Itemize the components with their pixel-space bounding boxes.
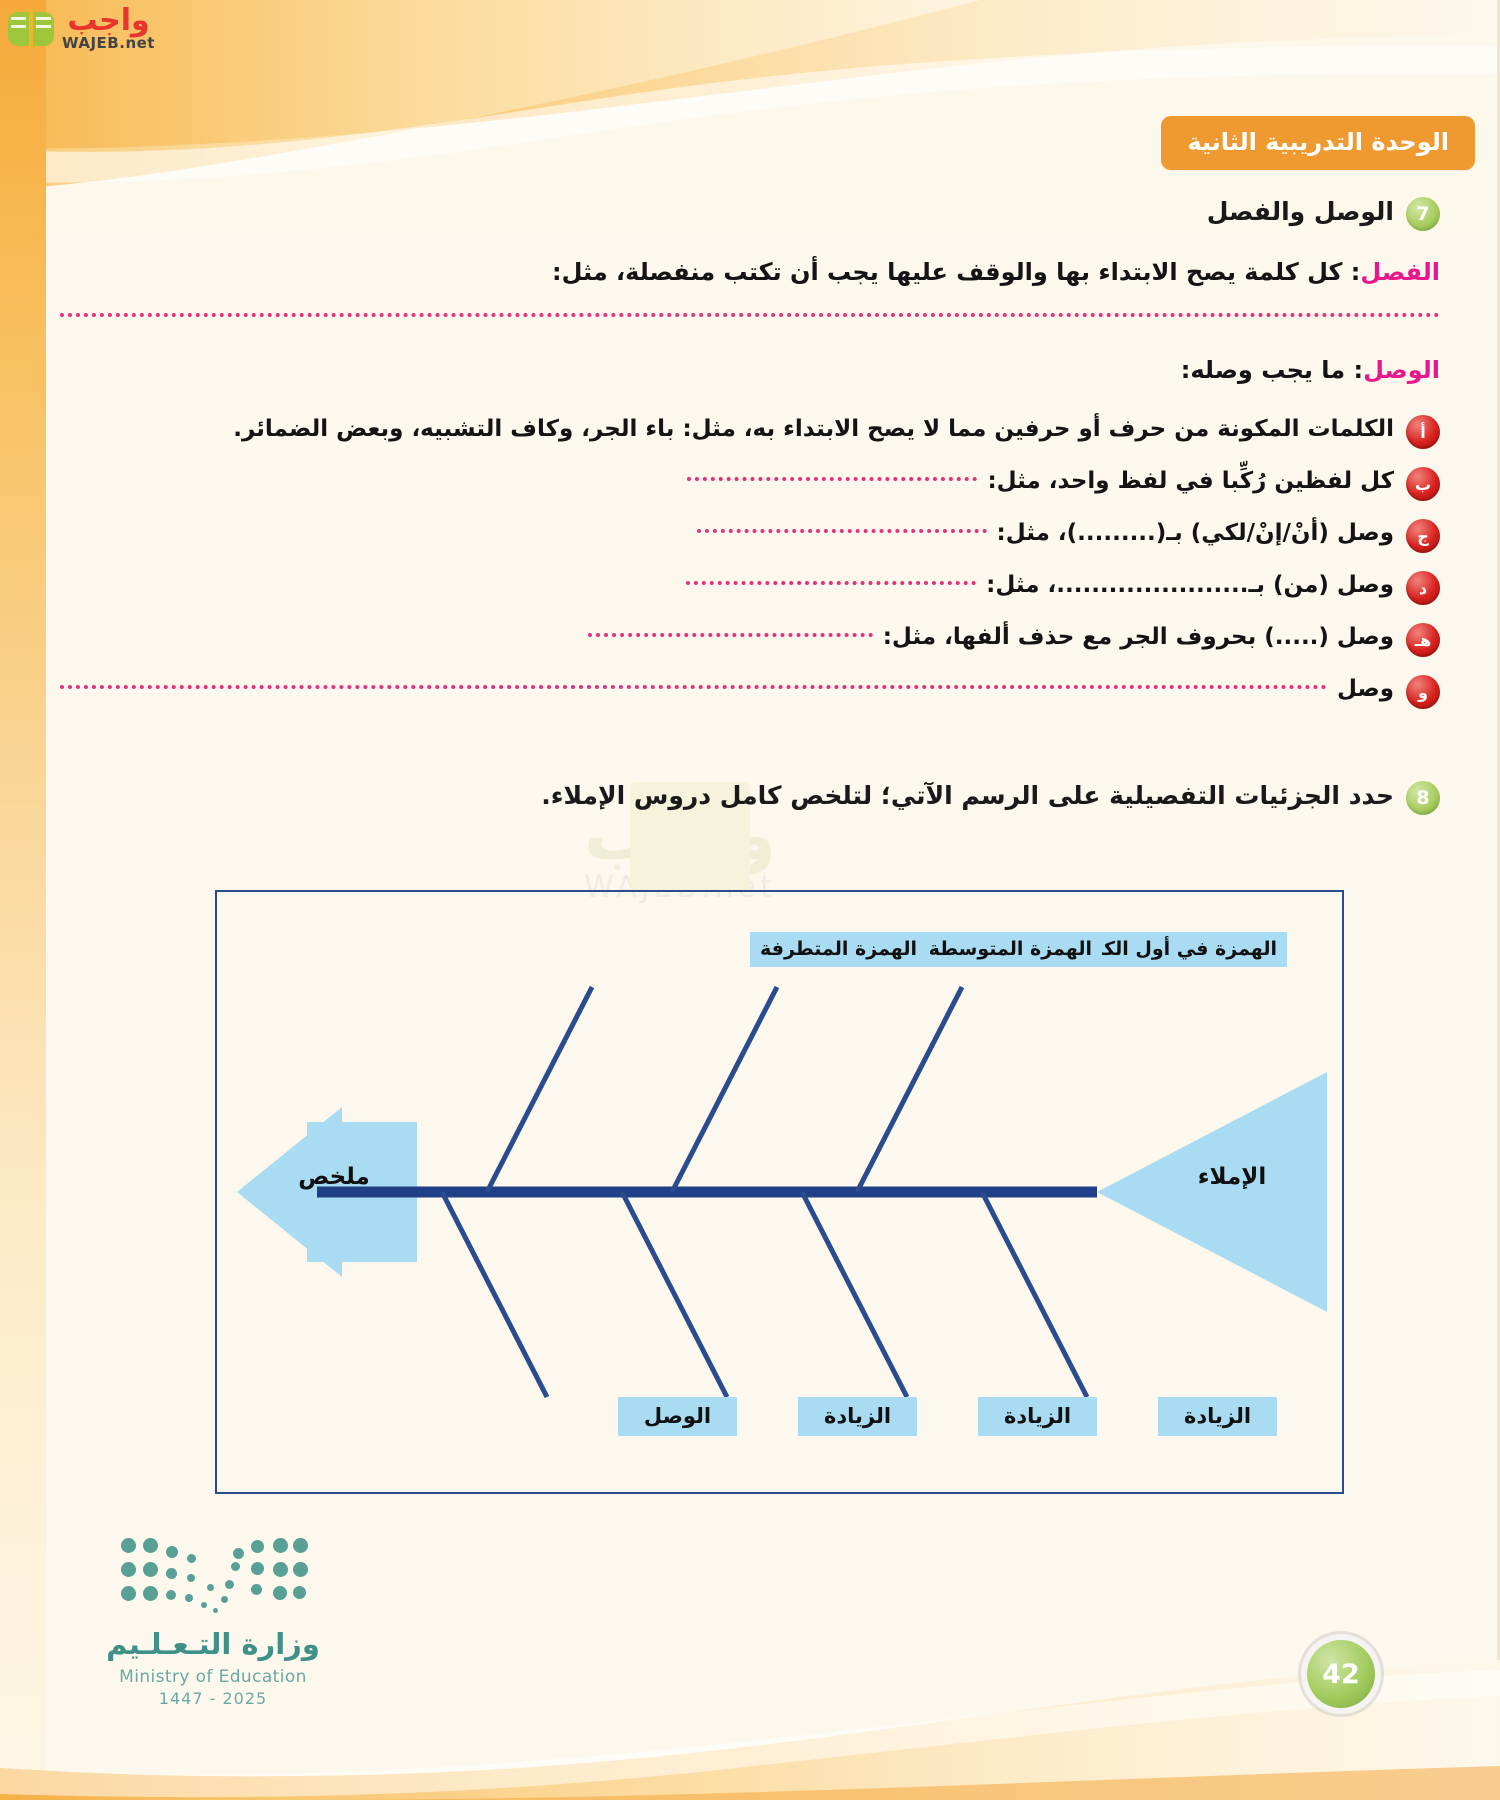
unit-banner: الوحدة التدريبية الثانية [1161, 116, 1475, 170]
fasl-answer-blank[interactable] [60, 299, 1440, 325]
watermark-word: واجب [62, 6, 155, 36]
list-item: و وصل [60, 671, 1440, 709]
item-answer-blank[interactable] [687, 463, 977, 481]
list-item: هـ وصل (.....) بحروف الجر مع حذف ألفها، … [60, 619, 1440, 657]
book-icon [8, 10, 54, 48]
list-item: ب كل لفظين رُكِّبا في لفظ واحد، مثل: [60, 463, 1440, 501]
question-8-heading: 8 حدد الجزئيات التفصيلية على الرسم الآتي… [60, 779, 1440, 815]
item-letter-badge: و [1406, 675, 1440, 709]
content-area: 7 الوصل والفصل الفصل: كل كلمة يصح الابتد… [60, 195, 1440, 815]
question-number-badge: 8 [1406, 781, 1440, 815]
fishbone-bottom-label-2: الزيادة [978, 1397, 1097, 1436]
page-number: 42 [1307, 1640, 1375, 1708]
fasl-text: : كل كلمة يصح الابتداء بها والوقف عليها … [552, 258, 1360, 286]
ministry-name-en: Ministry of Education [78, 1667, 348, 1687]
left-edge-band [0, 0, 46, 1800]
item-answer-blank[interactable] [697, 515, 987, 533]
ministry-dots-mark [121, 1536, 306, 1611]
item-text: كل لفظين رُكِّبا في لفظ واحد، مثل: [987, 463, 1394, 499]
wasl-text: : ما يجب وصله: [1181, 356, 1363, 384]
item-text: وصل (أنْ/إنْ/لكي) بـ(.........)، مثل: [997, 515, 1394, 551]
wasl-term: الوصل [1363, 356, 1440, 384]
ministry-name-ar: وزارة التـعـلـيم [78, 1627, 348, 1661]
fishbone-bottom-label-1: الزيادة [1158, 1397, 1277, 1436]
item-letter-badge: ج [1406, 519, 1440, 553]
fishbone-top-label-2: الهمزة المتوسطة [919, 932, 1102, 967]
watermark-net: WAJEB.net [62, 36, 155, 51]
item-letter-badge: هـ [1406, 623, 1440, 657]
list-item: أ الكلمات المكونة من حرف أو حرفين مما لا… [60, 411, 1440, 449]
item-answer-blank[interactable] [60, 671, 1327, 689]
fasl-term: الفصل [1360, 258, 1440, 286]
item-letter-badge: د [1406, 571, 1440, 605]
fishbone-head-shape [1097, 1072, 1327, 1312]
item-answer-blank[interactable] [686, 567, 976, 585]
fishbone-diagram: الإملاء ملخص الهمزة في أول الكلمة الهمزة… [215, 890, 1344, 1494]
worksheet-page: واجب WAJEB.net واجب WAJEB.net الوحدة الت… [0, 0, 1500, 1800]
list-item: د وصل (من) بـ......................، مثل… [60, 567, 1440, 605]
list-item: ج وصل (أنْ/إنْ/لكي) بـ(.........)، مثل: [60, 515, 1440, 553]
item-letter-badge: ب [1406, 467, 1440, 501]
fishbone-head-label: الإملاء [1142, 1164, 1322, 1190]
question-7-title: الوصل والفصل [1207, 195, 1394, 229]
watermark-logo: واجب WAJEB.net [8, 6, 155, 51]
fishbone-top-label-3: الهمزة المتطرفة [750, 932, 927, 967]
ministry-logo: وزارة التـعـلـيم Ministry of Education 2… [78, 1536, 348, 1708]
item-answer-blank[interactable] [588, 619, 873, 637]
item-text: وصل [1337, 671, 1394, 707]
item-text: الكلمات المكونة من حرف أو حرفين مما لا ي… [233, 411, 1394, 447]
question-number-badge: 7 [1406, 197, 1440, 231]
item-text: وصل (.....) بحروف الجر مع حذف ألفها، مثل… [883, 619, 1394, 655]
fishbone-bottom-label-3: الزيادة [798, 1397, 917, 1436]
ministry-year: 2025 - 1447 [78, 1689, 348, 1708]
question-7-heading: 7 الوصل والفصل [60, 195, 1440, 231]
fishbone-bottom-label-4: الوصل [618, 1397, 737, 1436]
question-8-title: حدد الجزئيات التفصيلية على الرسم الآتي؛ … [541, 779, 1394, 813]
fishbone-tail-label: ملخص [259, 1164, 409, 1190]
item-text: وصل (من) بـ......................، مثل: [986, 567, 1394, 603]
fasl-definition-row: الفصل: كل كلمة يصح الابتداء بها والوقف ع… [60, 253, 1440, 291]
wasl-definition-row: الوصل: ما يجب وصله: [60, 351, 1440, 389]
item-letter-badge: أ [1406, 415, 1440, 449]
